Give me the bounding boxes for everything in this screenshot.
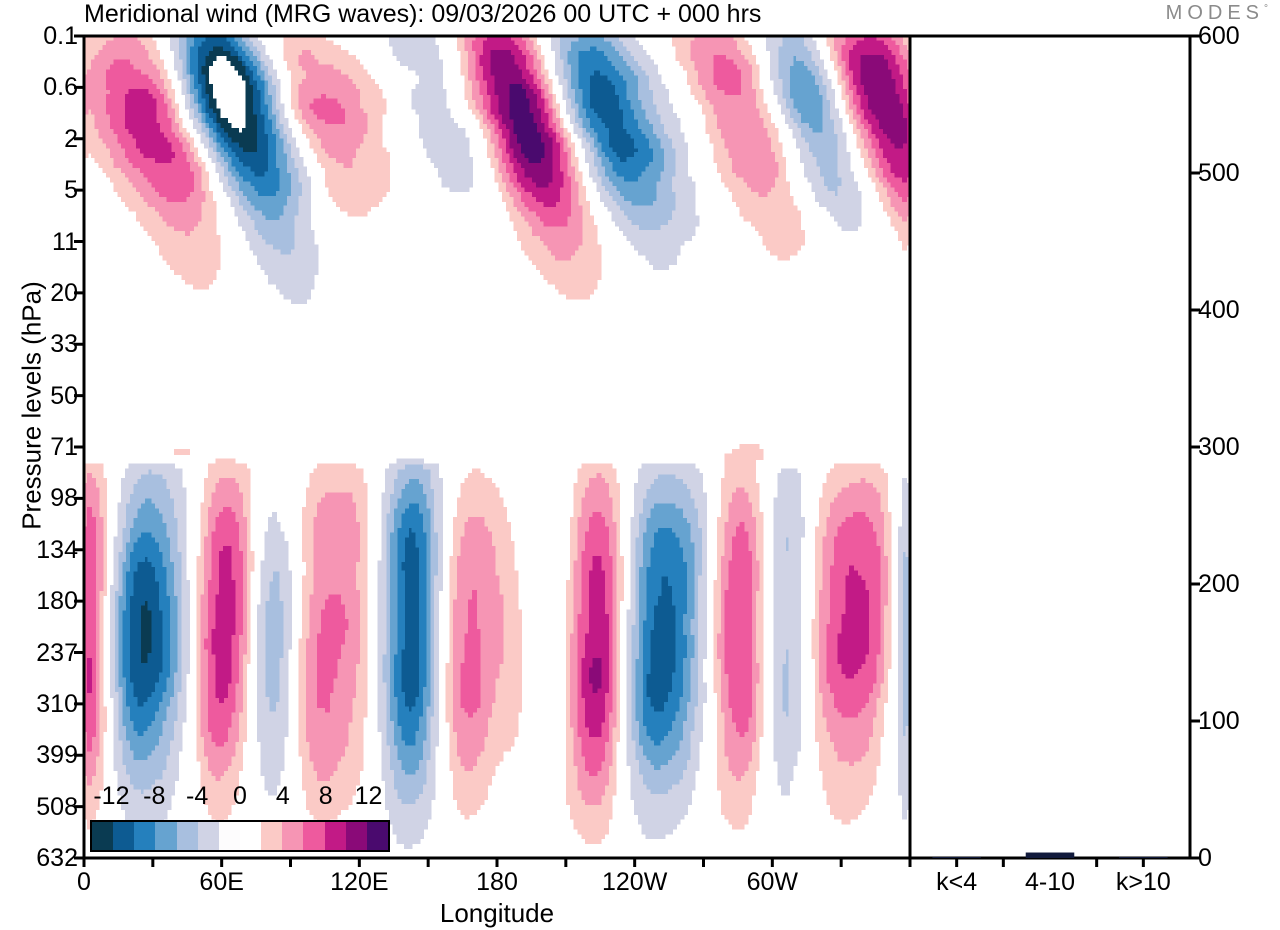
- colorbar-swatch: [303, 822, 324, 850]
- colorbar-tick-label: 4: [276, 782, 290, 811]
- colorbar-swatch: [325, 822, 346, 850]
- energy-bar: [1119, 857, 1168, 858]
- colorbar-tick-label: 0: [233, 782, 247, 811]
- colorbar-swatches: [90, 820, 390, 852]
- colorbar-swatch: [282, 822, 303, 850]
- colorbar-swatch: [240, 822, 261, 850]
- colorbar-tick-label: -12: [93, 782, 129, 811]
- colorbar-swatch: [134, 822, 155, 850]
- colorbar-tick-label: -4: [186, 782, 208, 811]
- energy-bar: [1026, 853, 1075, 858]
- colorbar-tick-labels: -12-8-404812: [90, 782, 390, 812]
- colorbar: -12-8-404812: [90, 782, 390, 812]
- colorbar-swatch: [346, 822, 367, 850]
- colorbar-swatch: [92, 822, 113, 850]
- colorbar-swatch: [177, 822, 198, 850]
- contour-bands: [83, 35, 910, 858]
- chart-page: Meridional wind (MRG waves): 09/03/2026 …: [0, 0, 1280, 930]
- energy-bar: [932, 857, 981, 858]
- colorbar-swatch: [219, 822, 240, 850]
- colorbar-swatch: [198, 822, 219, 850]
- colorbar-swatch: [113, 822, 134, 850]
- colorbar-swatch: [367, 822, 388, 850]
- colorbar-tick-label: 12: [355, 782, 383, 811]
- colorbar-tick-label: -8: [143, 782, 165, 811]
- colorbar-swatch: [261, 822, 282, 850]
- colorbar-tick-label: 8: [319, 782, 333, 811]
- colorbar-swatch: [155, 822, 176, 850]
